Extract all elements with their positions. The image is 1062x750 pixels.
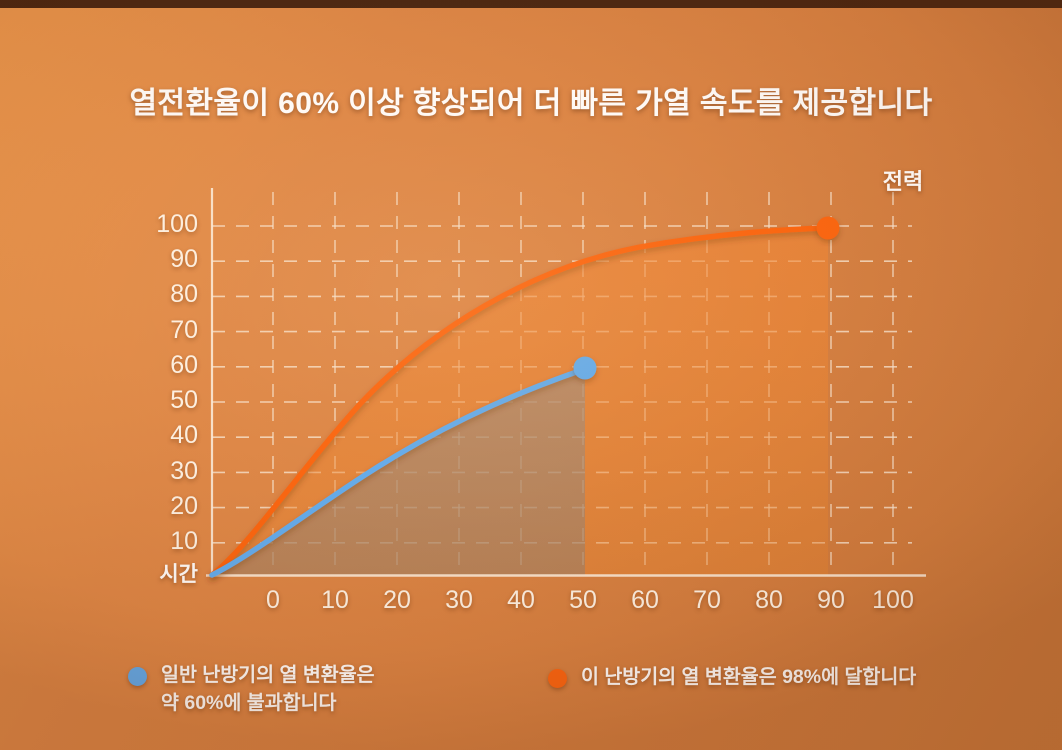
blue-endpoint-marker bbox=[574, 357, 597, 380]
x-tick-60: 60 bbox=[610, 588, 680, 613]
y-tick-60: 60 bbox=[118, 353, 198, 378]
y-tick-20: 20 bbox=[118, 494, 198, 519]
orange-endpoint-marker bbox=[817, 217, 840, 240]
x-tick-0: 0 bbox=[238, 588, 308, 613]
legend-label-this-heater: 이 난방기의 열 변환율은 98%에 달합니다 bbox=[581, 664, 916, 692]
x-axis-tick-labels: 0 10 20 30 40 50 60 70 80 90 100 bbox=[0, 588, 1062, 628]
chart-canvas: 100 90 80 70 60 50 40 30 20 10 시간 0 10 2… bbox=[0, 0, 1062, 750]
y-tick-40: 40 bbox=[118, 423, 198, 448]
chart-title: 열전환율이 60% 이상 향상되어 더 빠른 가열 속도를 제공합니다 bbox=[0, 78, 1062, 122]
y-tick-30: 30 bbox=[118, 459, 198, 484]
y-tick-70: 70 bbox=[118, 318, 198, 343]
y-tick-90: 90 bbox=[118, 247, 198, 272]
time-axis-label: 시간 bbox=[118, 564, 198, 585]
x-tick-100: 100 bbox=[858, 588, 928, 613]
power-axis-label: 전력 bbox=[838, 164, 968, 196]
x-tick-10: 10 bbox=[300, 588, 370, 613]
legend-label-standard-heater: 일반 난방기의 열 변환율은 약 60%에 불과합니다 bbox=[161, 662, 375, 717]
x-tick-80: 80 bbox=[734, 588, 804, 613]
y-tick-50: 50 bbox=[118, 388, 198, 413]
x-tick-50: 50 bbox=[548, 588, 618, 613]
x-tick-20: 20 bbox=[362, 588, 432, 613]
x-tick-30: 30 bbox=[424, 588, 494, 613]
y-tick-10: 10 bbox=[118, 529, 198, 554]
x-tick-90: 90 bbox=[796, 588, 866, 613]
blue-legend-dot bbox=[128, 667, 147, 686]
orange-legend-dot bbox=[548, 669, 567, 688]
legend-item-this-heater: 이 난방기의 열 변환율은 98%에 달합니다 bbox=[548, 664, 916, 692]
y-tick-80: 80 bbox=[118, 282, 198, 307]
y-tick-100: 100 bbox=[118, 212, 198, 237]
x-tick-40: 40 bbox=[486, 588, 556, 613]
x-tick-70: 70 bbox=[672, 588, 742, 613]
legend-item-standard-heater: 일반 난방기의 열 변환율은 약 60%에 불과합니다 bbox=[128, 662, 375, 717]
